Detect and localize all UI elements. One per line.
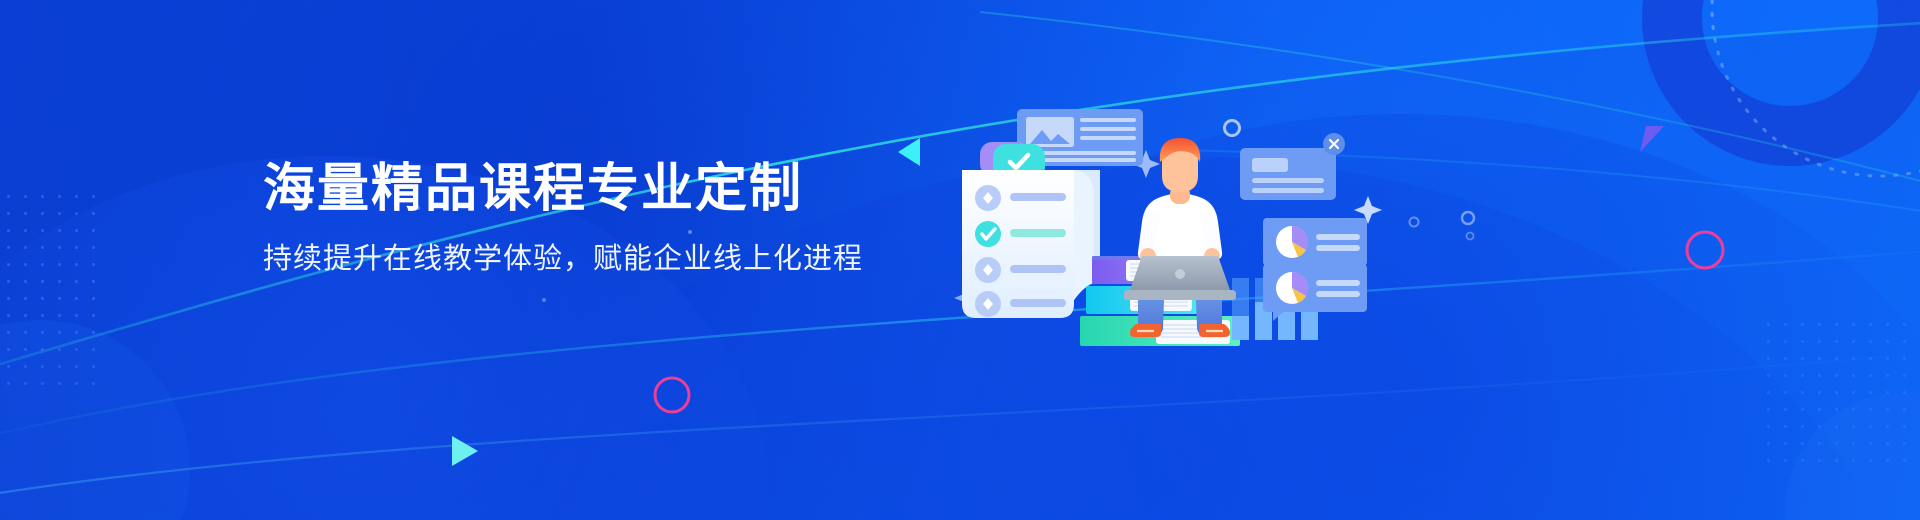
bar-chart-bar xyxy=(1301,310,1318,340)
checklist-bullet-checked xyxy=(975,221,1001,247)
checklist-bar xyxy=(1010,193,1066,201)
checklist-document[interactable] xyxy=(962,170,1100,318)
sparkle-dot xyxy=(542,298,546,302)
online-education-illustration xyxy=(940,88,1360,348)
bar-chart-bar xyxy=(1232,316,1249,340)
page-title: 海量精品课程专业定制 xyxy=(263,160,1023,220)
pie-chart-icon xyxy=(1276,226,1308,258)
pie-chart-icon xyxy=(1276,272,1308,304)
checklist-bar xyxy=(1010,299,1066,307)
hero-banner: 海量精品课程专业定制 持续提升在线教学体验，赋能企业线上化进程 xyxy=(0,0,1920,520)
illustration-svg xyxy=(940,88,1360,348)
checklist-bar xyxy=(1010,265,1066,273)
message-card[interactable] xyxy=(1240,133,1345,200)
page-subtitle: 持续提升在线教学体验，赋能企业线上化进程 xyxy=(263,242,1023,277)
hero-text-block: 海量精品课程专业定制 持续提升在线教学体验，赋能企业线上化进程 xyxy=(263,160,1023,277)
checklist-bar xyxy=(1010,229,1066,237)
